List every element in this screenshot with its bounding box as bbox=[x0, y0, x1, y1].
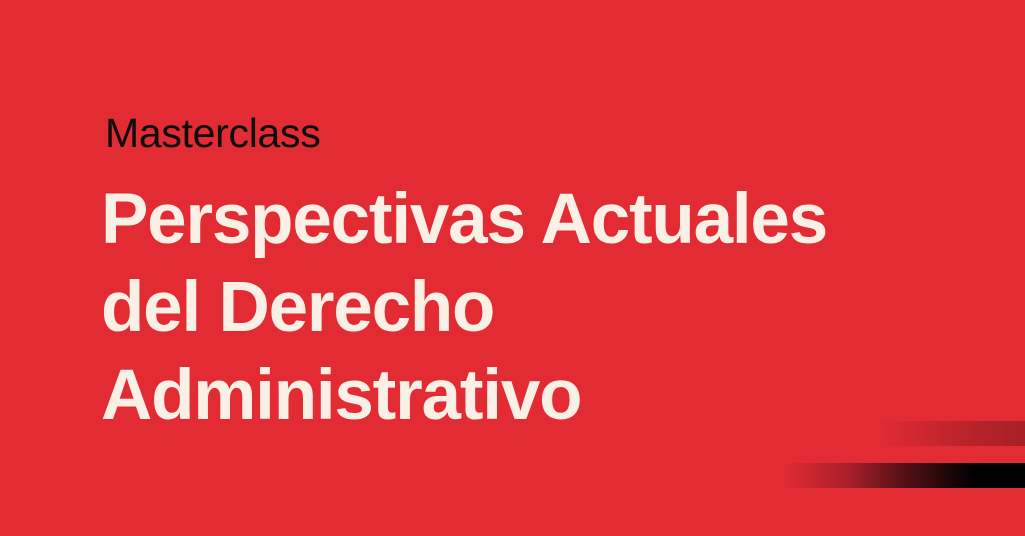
masterclass-title-slide: Masterclass Perspectivas Actuales del De… bbox=[0, 0, 1025, 536]
eyebrow-label: Masterclass bbox=[105, 113, 320, 154]
gradient-bar-black bbox=[786, 463, 1025, 488]
gradient-bar-red bbox=[878, 421, 1025, 446]
text-block: Masterclass Perspectivas Actuales del De… bbox=[105, 0, 985, 536]
page-title: Perspectivas Actuales del Derecho Admini… bbox=[101, 176, 827, 440]
